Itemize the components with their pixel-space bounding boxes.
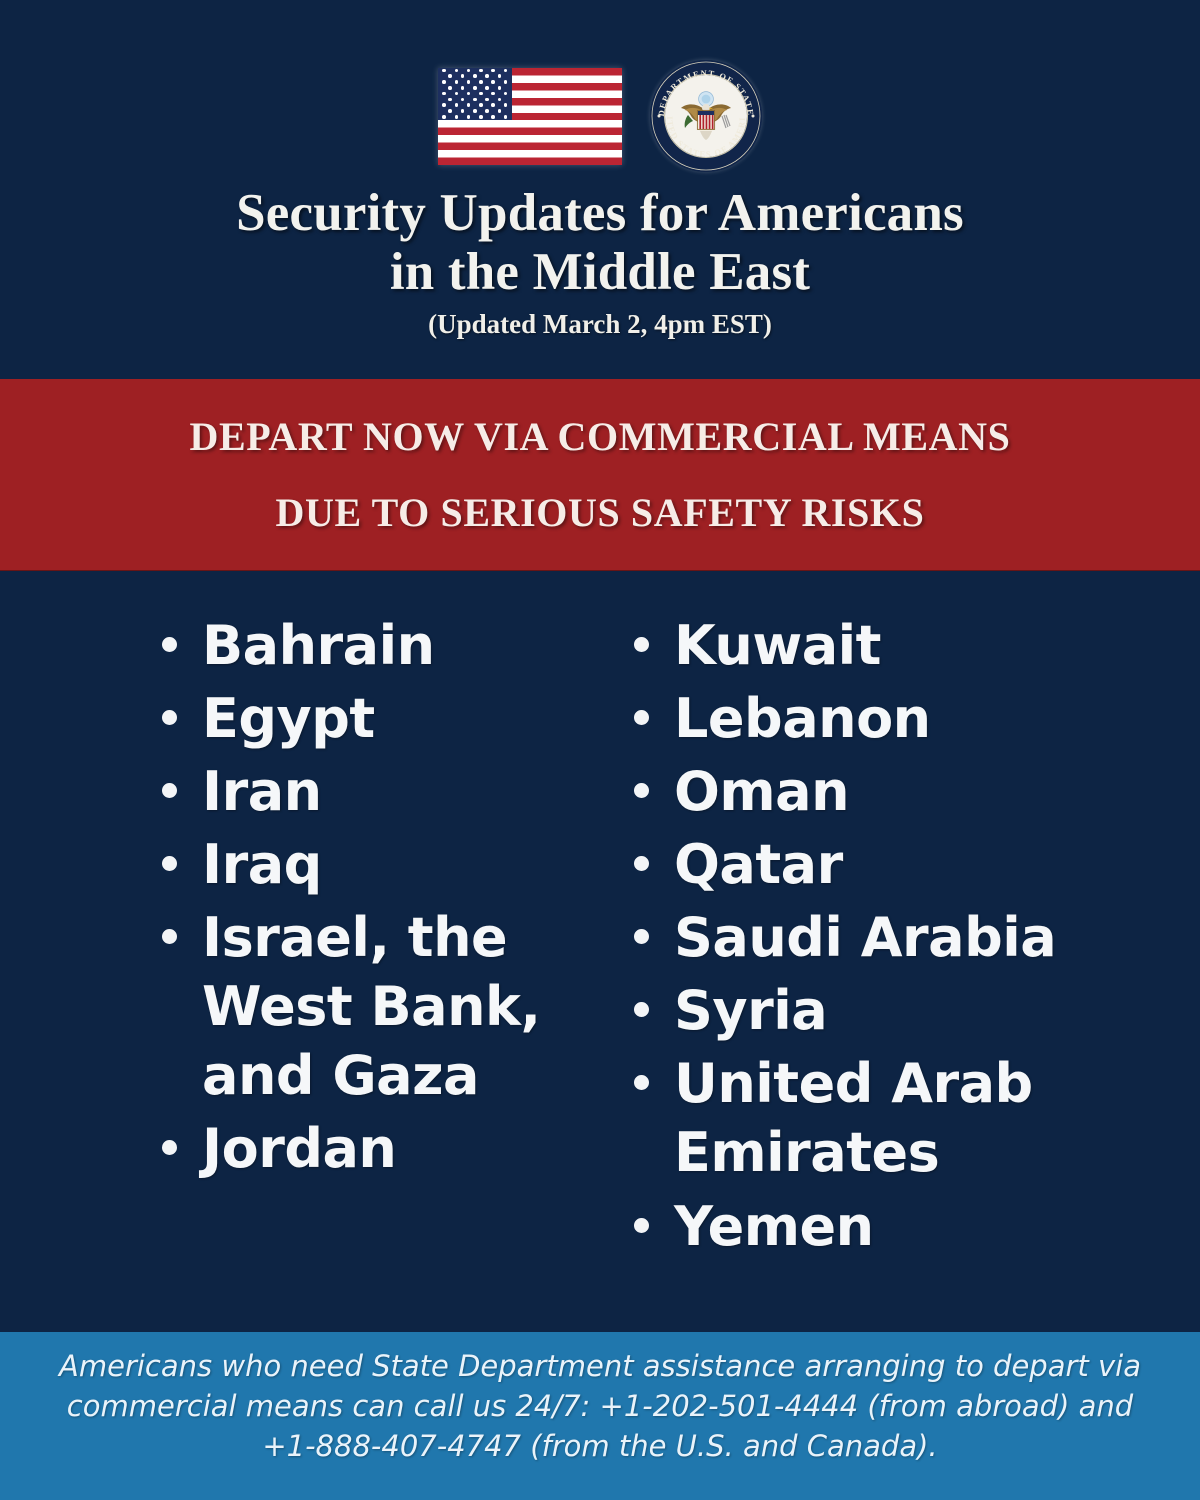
alert-banner-line-1: DEPART NOW VIA COMMERCIAL MEANS	[190, 417, 1011, 457]
country-list-item: Jordan	[162, 1114, 592, 1183]
bullet-icon	[634, 1075, 649, 1090]
country-list-item: Bahrain	[162, 611, 592, 680]
country-list-item: Oman	[634, 757, 1064, 826]
country-list-item: Yemen	[634, 1192, 1064, 1261]
assistance-footer: Americans who need State Department assi…	[0, 1332, 1200, 1500]
country-list-item: Lebanon	[634, 684, 1064, 753]
security-update-poster: DEPARTMENT OF STATE UNITED STATES OF AME…	[0, 0, 1200, 1500]
flag-stars	[438, 68, 512, 120]
country-list-item: Israel, the West Bank, and Gaza	[162, 903, 592, 1110]
title-block: Security Updates for Americans in the Mi…	[0, 170, 1200, 340]
country-list-left-column: BahrainEgyptIranIraqIsrael, the West Ban…	[136, 611, 592, 1332]
bullet-icon	[634, 637, 649, 652]
eagle-emblem-icon	[678, 91, 734, 141]
page-title-line-1: Security Updates for Americans	[40, 184, 1160, 243]
bullet-icon	[162, 1140, 177, 1155]
country-list-item: Saudi Arabia	[634, 903, 1064, 972]
country-list-right-column: KuwaitLebanonOmanQatarSaudi ArabiaSyriaU…	[592, 611, 1064, 1332]
country-name: Syria	[674, 976, 827, 1045]
country-name: Saudi Arabia	[674, 903, 1056, 972]
emblem-row: DEPARTMENT OF STATE UNITED STATES OF AME…	[0, 62, 1200, 170]
country-name: United Arab Emirates	[674, 1049, 1064, 1187]
page-title-line-2: in the Middle East	[40, 243, 1160, 302]
country-name: Jordan	[202, 1114, 396, 1183]
department-of-state-seal-icon: DEPARTMENT OF STATE UNITED STATES OF AME…	[650, 60, 762, 172]
country-list-item: Egypt	[162, 684, 592, 753]
bullet-icon	[162, 783, 177, 798]
country-name: Bahrain	[202, 611, 435, 680]
bullet-icon	[162, 710, 177, 725]
bullet-icon	[634, 929, 649, 944]
country-name: Egypt	[202, 684, 375, 753]
bullet-icon	[162, 856, 177, 871]
bullet-icon	[162, 637, 177, 652]
country-name: Oman	[674, 757, 849, 826]
country-list-item: Iran	[162, 757, 592, 826]
country-list-item: Qatar	[634, 830, 1064, 899]
country-name: Israel, the West Bank, and Gaza	[202, 903, 592, 1110]
country-list-area: BahrainEgyptIranIraqIsrael, the West Ban…	[0, 571, 1200, 1332]
country-name: Qatar	[674, 830, 843, 899]
country-list-item: Iraq	[162, 830, 592, 899]
assistance-footer-text: Americans who need State Department assi…	[55, 1346, 1145, 1466]
bullet-icon	[634, 710, 649, 725]
alert-banner-line-2: DUE TO SERIOUS SAFETY RISKS	[275, 493, 924, 533]
country-name: Lebanon	[674, 684, 931, 753]
country-name: Kuwait	[674, 611, 881, 680]
country-list-item: Kuwait	[634, 611, 1064, 680]
updated-timestamp: (Updated March 2, 4pm EST)	[40, 309, 1160, 340]
country-name: Yemen	[674, 1192, 874, 1261]
bullet-icon	[634, 856, 649, 871]
country-name: Iran	[202, 757, 322, 826]
country-name: Iraq	[202, 830, 322, 899]
poster-header: DEPARTMENT OF STATE UNITED STATES OF AME…	[0, 0, 1200, 350]
country-list-item: United Arab Emirates	[634, 1049, 1064, 1187]
bullet-icon	[634, 783, 649, 798]
country-list-item: Syria	[634, 976, 1064, 1045]
bullet-icon	[634, 1002, 649, 1017]
us-flag-icon	[438, 68, 622, 165]
bullet-icon	[162, 929, 177, 944]
bullet-icon	[634, 1218, 649, 1233]
alert-banner: DEPART NOW VIA COMMERCIAL MEANS DUE TO S…	[0, 379, 1200, 571]
